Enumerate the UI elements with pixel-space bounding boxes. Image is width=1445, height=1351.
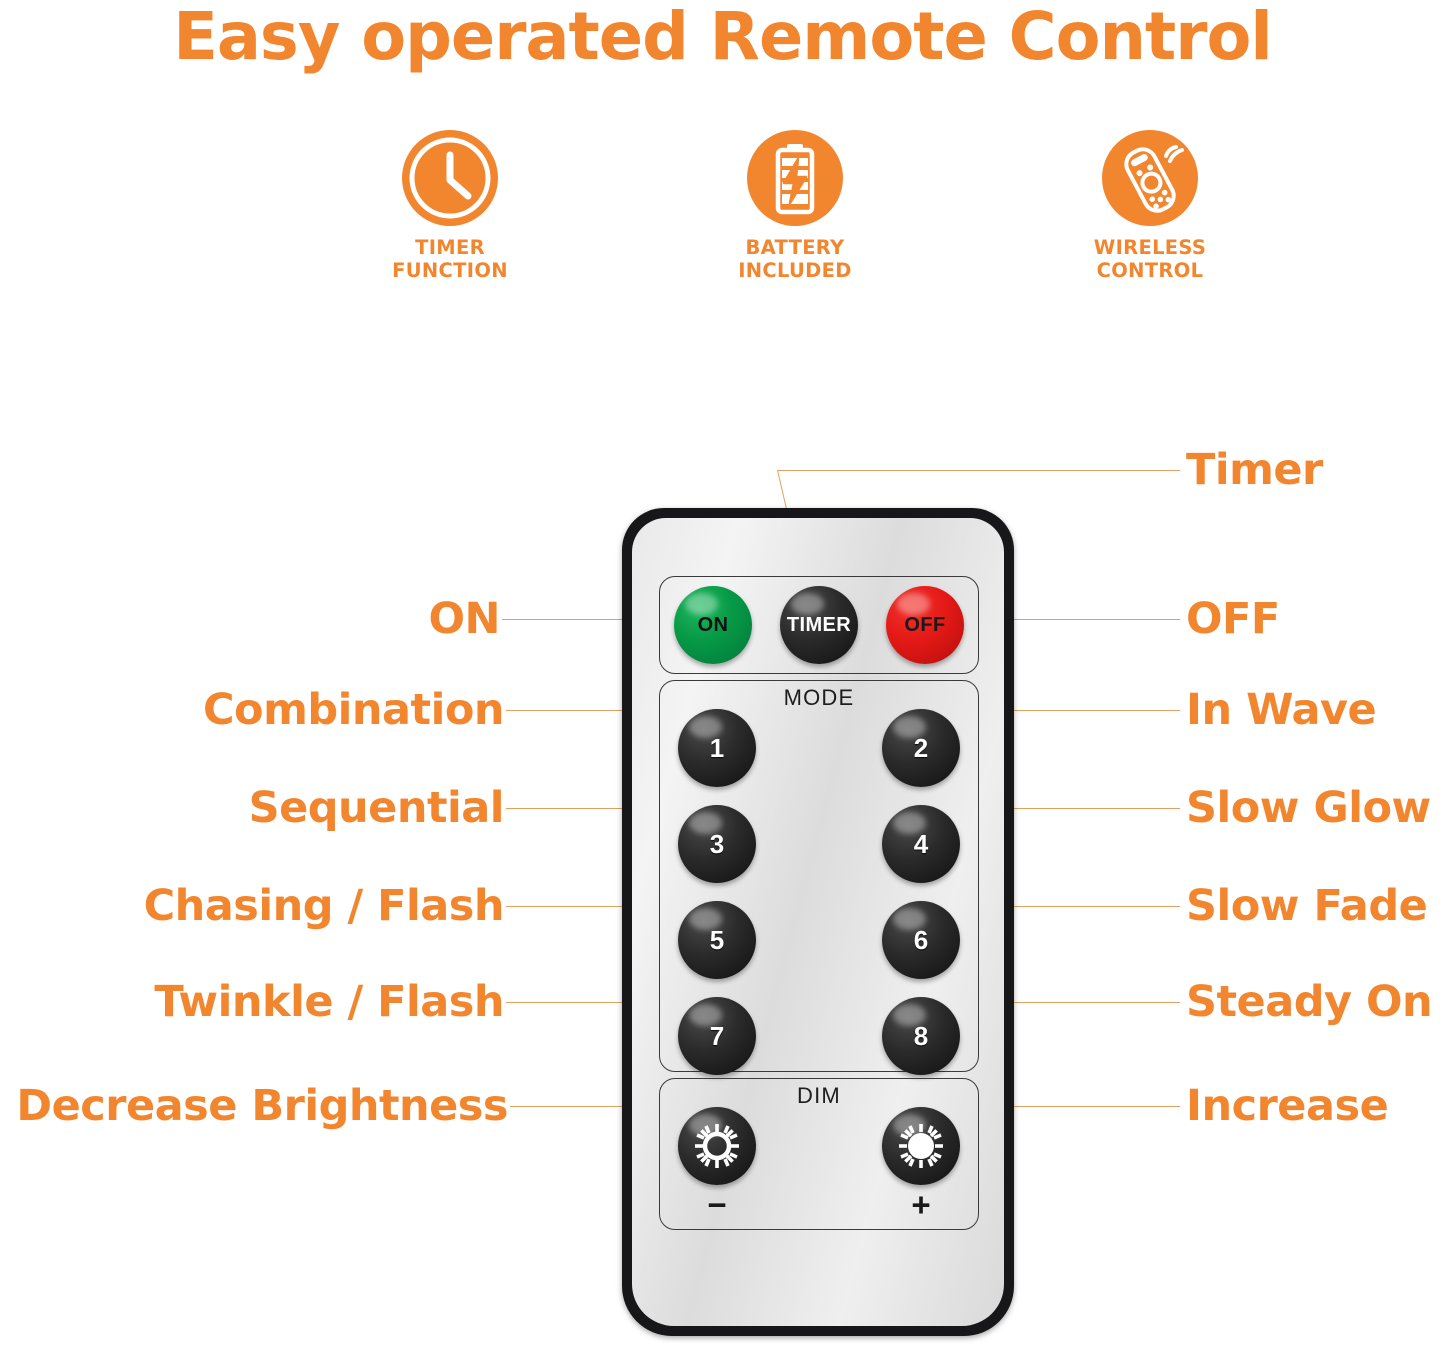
callout-on: ON — [0, 594, 500, 644]
callout-off: OFF — [1186, 594, 1280, 644]
mode-button-label: 8 — [914, 1021, 928, 1052]
infographic-page: Easy operated Remote Control TIMER FUNCT… — [0, 0, 1445, 1351]
mode-button-label: 2 — [914, 733, 928, 764]
mode-button-8[interactable]: 8 — [882, 997, 960, 1075]
remote-icon — [1100, 128, 1200, 228]
mode-button-1[interactable]: 1 — [678, 709, 756, 787]
callout-steady-on: Steady On — [1186, 977, 1432, 1027]
callout-label: Twinkle / Flash — [154, 977, 504, 1027]
callout-label: Steady On — [1186, 977, 1432, 1027]
callout-label: OFF — [1186, 594, 1280, 644]
remote-faceplate: ON TIMER OFF MODE 1 2 3 — [632, 518, 1004, 1326]
callout-combination: Combination — [0, 685, 504, 735]
dim-increase-button[interactable] — [882, 1107, 960, 1185]
mode-button-7[interactable]: 7 — [678, 997, 756, 1075]
callout-label: Slow Glow — [1186, 783, 1431, 833]
mode-button-3[interactable]: 3 — [678, 805, 756, 883]
dim-plus-symbol: + — [901, 1195, 941, 1215]
feature-label: TIMER FUNCTION — [300, 236, 600, 282]
callout-label: Increase — [1186, 1081, 1388, 1131]
callout-sequential: Sequential — [0, 783, 504, 833]
mode-button-label: 3 — [710, 829, 724, 860]
callout-chasing-flash: Chasing / Flash — [0, 881, 504, 931]
mode-button-label: 6 — [914, 925, 928, 956]
mode-button-label: 7 — [710, 1021, 724, 1052]
feature-label: WIRELESS CONTROL — [1000, 236, 1300, 282]
feature-wireless-control: WIRELESS CONTROL — [1000, 128, 1300, 282]
page-title: Easy operated Remote Control — [7, 0, 1438, 75]
timer-button[interactable]: TIMER — [780, 586, 858, 664]
feature-battery-included: BATTERY INCLUDED — [645, 128, 945, 282]
feature-label-line2: CONTROL — [1097, 259, 1204, 282]
clock-icon — [400, 128, 500, 228]
feature-timer-function: TIMER FUNCTION — [300, 128, 600, 282]
callout-label: Sequential — [249, 783, 504, 833]
leader-line-timer — [778, 470, 1180, 471]
feature-badges: TIMER FUNCTION BATTERY INCLUDED — [300, 128, 1290, 318]
mode-button-label: 4 — [914, 829, 928, 860]
feature-label-line1: TIMER — [415, 236, 485, 259]
remote-control-device: ON TIMER OFF MODE 1 2 3 — [622, 508, 1014, 1336]
dim-panel-title: DIM — [660, 1083, 978, 1109]
mode-button-5[interactable]: 5 — [678, 901, 756, 979]
feature-label-line2: FUNCTION — [392, 259, 508, 282]
callout-slow-fade: Slow Fade — [1186, 881, 1427, 931]
mode-panel: MODE 1 2 3 4 5 6 — [659, 680, 979, 1072]
callout-label: Combination — [203, 685, 504, 735]
feature-label-line1: WIRELESS — [1094, 236, 1206, 259]
timer-button-label: TIMER — [787, 614, 851, 637]
callout-in-wave: In Wave — [1186, 685, 1376, 735]
callout-label: Timer — [1186, 445, 1323, 495]
sun-filled-icon — [895, 1120, 947, 1172]
sun-hollow-icon — [691, 1120, 743, 1172]
off-button-label: OFF — [904, 614, 945, 637]
callout-label: Decrease Brightness — [16, 1081, 508, 1131]
feature-label-line2: INCLUDED — [738, 259, 852, 282]
mode-button-label: 5 — [710, 925, 724, 956]
power-panel: ON TIMER OFF — [659, 576, 979, 674]
callout-label: In Wave — [1186, 685, 1376, 735]
battery-icon — [745, 128, 845, 228]
mode-button-label: 1 — [710, 733, 724, 764]
on-button-label: ON — [698, 614, 729, 637]
off-button[interactable]: OFF — [886, 586, 964, 664]
callout-decrease-brightness: Decrease Brightness — [0, 1081, 508, 1131]
callout-twinkle-flash: Twinkle / Flash — [0, 977, 504, 1027]
feature-label-line1: BATTERY — [746, 236, 845, 259]
on-button[interactable]: ON — [674, 586, 752, 664]
dim-minus-symbol: − — [697, 1195, 737, 1215]
mode-button-6[interactable]: 6 — [882, 901, 960, 979]
callout-label: Slow Fade — [1186, 881, 1427, 931]
feature-label: BATTERY INCLUDED — [645, 236, 945, 282]
mode-button-4[interactable]: 4 — [882, 805, 960, 883]
callout-label: ON — [428, 594, 500, 644]
callout-timer: Timer — [1186, 445, 1323, 495]
callout-label: Chasing / Flash — [144, 881, 504, 931]
callout-increase: Increase — [1186, 1081, 1388, 1131]
callout-slow-glow: Slow Glow — [1186, 783, 1431, 833]
mode-panel-title: MODE — [660, 685, 978, 711]
mode-button-2[interactable]: 2 — [882, 709, 960, 787]
dim-panel: DIM — [659, 1078, 979, 1230]
dim-decrease-button[interactable] — [678, 1107, 756, 1185]
